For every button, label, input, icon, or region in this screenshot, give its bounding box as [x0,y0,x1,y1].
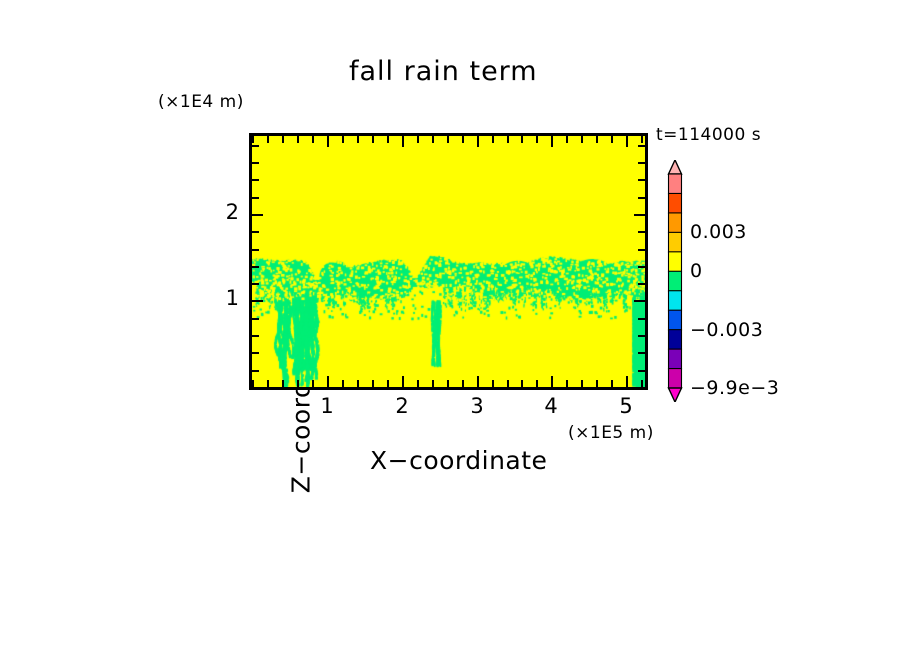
y-major-tick [252,214,263,216]
x-minor-tick [462,136,464,143]
x-minor-tick [566,136,568,143]
x-major-tick [626,376,628,387]
y-minor-tick [638,352,645,354]
y-minor-tick [252,249,259,251]
x-tick-label: 1 [312,394,342,418]
y-minor-tick [638,370,645,372]
y-minor-tick [252,179,259,181]
x-major-tick [551,376,553,387]
x-minor-tick [492,136,494,143]
x-axis-unit-label: (×1E5 m) [568,423,654,443]
x-tick-label: 2 [387,394,417,418]
time-annotation: t=114000 s [656,125,761,145]
y-minor-tick [638,249,645,251]
colorbar-tick-label: −9.9e−3 [690,377,779,399]
colorbar-tick-label: 0.003 [690,221,747,243]
y-tick-label: 2 [213,200,239,224]
x-minor-tick [507,136,509,143]
x-minor-tick [297,380,299,387]
x-minor-tick [596,380,598,387]
page-title: fall rain term [0,56,904,87]
y-minor-tick [638,179,645,181]
x-minor-tick [596,136,598,143]
y-minor-tick [252,145,259,147]
x-minor-tick [372,136,374,143]
x-major-tick [551,136,553,147]
x-major-tick [402,136,404,147]
x-minor-tick [282,380,284,387]
x-major-tick [327,136,329,147]
x-minor-tick [521,380,523,387]
y-minor-tick [252,352,259,354]
x-minor-tick [387,380,389,387]
x-minor-tick [581,136,583,143]
y-minor-tick [638,335,645,337]
x-minor-tick [641,136,643,143]
y-minor-tick [252,231,259,233]
y-axis-title-container: Z−coordinate [186,135,220,391]
x-minor-tick [611,380,613,387]
y-major-tick [634,300,645,302]
y-minor-tick [252,283,259,285]
x-tick-label: 5 [611,394,641,418]
x-minor-tick [312,380,314,387]
x-minor-tick [432,136,434,143]
y-minor-tick [638,162,645,164]
x-minor-tick [312,136,314,143]
y-minor-tick [252,197,259,199]
x-axis-title: X−coordinate [370,446,547,475]
x-minor-tick [357,380,359,387]
x-minor-tick [342,380,344,387]
colorbar [655,160,695,402]
x-tick-label: 4 [536,394,566,418]
plot-area [249,133,648,390]
x-minor-tick [252,136,254,143]
x-major-tick [402,376,404,387]
x-minor-tick [432,380,434,387]
y-tick-label: 1 [213,286,239,310]
x-minor-tick [267,136,269,143]
x-minor-tick [566,380,568,387]
x-minor-tick [372,380,374,387]
x-minor-tick [282,136,284,143]
x-minor-tick [507,380,509,387]
x-major-tick [327,376,329,387]
y-minor-tick [638,231,645,233]
x-minor-tick [581,380,583,387]
y-minor-tick [638,387,645,389]
x-minor-tick [536,136,538,143]
y-major-tick [252,300,263,302]
x-minor-tick [267,380,269,387]
y-major-tick [634,214,645,216]
y-minor-tick [252,318,259,320]
x-minor-tick [462,380,464,387]
x-tick-label: 3 [462,394,492,418]
x-minor-tick [417,136,419,143]
colorbar-tick-label: 0 [690,260,703,282]
x-major-tick [477,376,479,387]
y-minor-tick [252,335,259,337]
x-minor-tick [342,136,344,143]
y-minor-tick [638,266,645,268]
x-minor-tick [492,380,494,387]
x-minor-tick [641,380,643,387]
x-major-tick [477,136,479,147]
x-minor-tick [521,136,523,143]
x-major-tick [626,136,628,147]
colorbar-tick-label: −0.003 [690,319,763,341]
y-minor-tick [252,370,259,372]
x-minor-tick [252,380,254,387]
y-minor-tick [638,283,645,285]
y-minor-tick [252,387,259,389]
contour-field-canvas [252,136,645,387]
y-minor-tick [638,197,645,199]
x-minor-tick [611,136,613,143]
y-minor-tick [252,162,259,164]
y-minor-tick [638,318,645,320]
x-minor-tick [417,380,419,387]
x-minor-tick [387,136,389,143]
y-axis-unit-label: (×1E4 m) [158,92,244,112]
x-minor-tick [447,380,449,387]
y-minor-tick [252,266,259,268]
x-minor-tick [357,136,359,143]
x-minor-tick [297,136,299,143]
y-minor-tick [638,145,645,147]
x-minor-tick [536,380,538,387]
x-minor-tick [447,136,449,143]
